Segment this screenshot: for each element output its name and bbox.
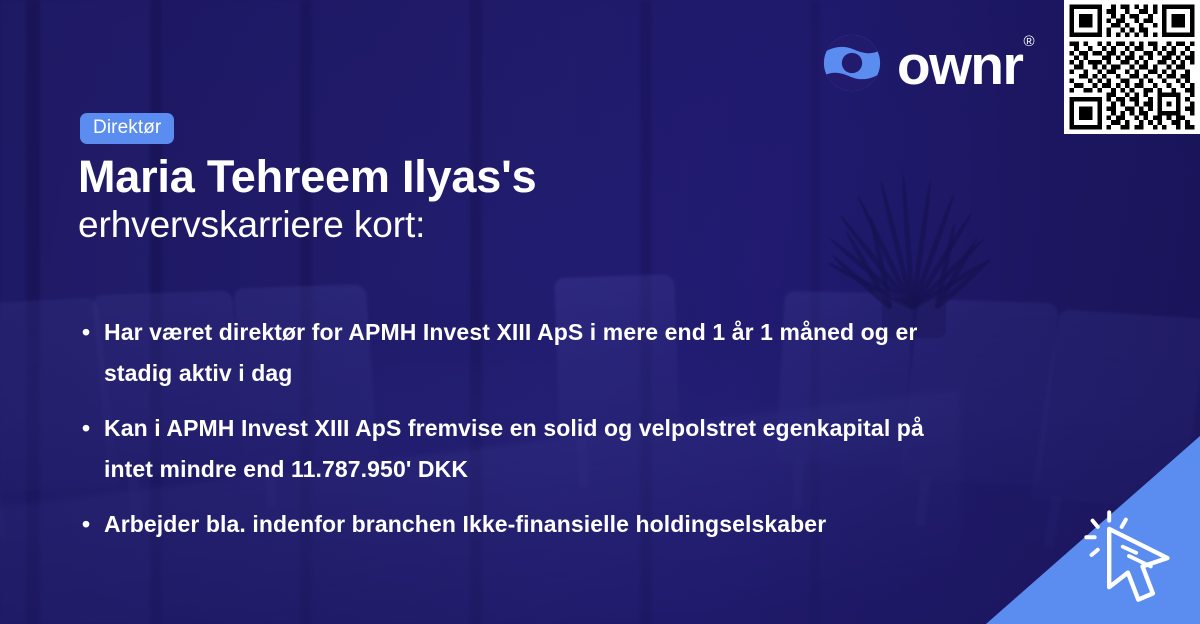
- ownr-logo: ownr®: [821, 32, 1032, 94]
- click-cursor-icon: [1078, 504, 1182, 608]
- ownr-wordmark: ownr®: [897, 38, 1032, 93]
- career-card: Direktør Maria Tehreem Ilyas's erhvervsk…: [0, 0, 1200, 624]
- list-item: Har været direktør for APMH Invest XIII …: [80, 312, 960, 394]
- ownr-wordmark-text: ownr: [897, 34, 1022, 96]
- career-facts-list: Har været direktør for APMH Invest XIII …: [80, 312, 960, 559]
- page-title: Maria Tehreem Ilyas's erhvervskarriere k…: [78, 152, 898, 248]
- list-item: Arbejder bla. indenfor branchen Ikke-fin…: [80, 504, 960, 545]
- registered-trademark-icon: ®: [1023, 33, 1033, 50]
- qr-code-icon[interactable]: [1064, 0, 1200, 134]
- role-badge: Direktør: [80, 113, 174, 144]
- page-title-subtitle: erhvervskarriere kort:: [78, 202, 898, 247]
- ownr-circle-swirl-icon: [821, 32, 883, 94]
- page-title-name: Maria Tehreem Ilyas's: [78, 152, 898, 202]
- list-item: Kan i APMH Invest XIII ApS fremvise en s…: [80, 408, 960, 490]
